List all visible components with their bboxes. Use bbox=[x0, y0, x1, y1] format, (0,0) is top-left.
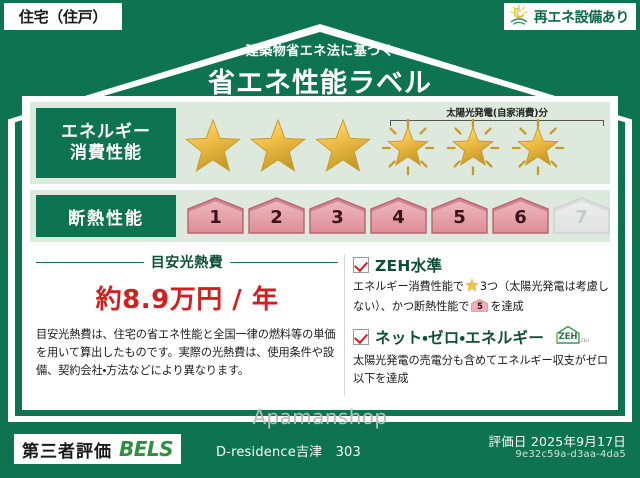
evaluation-id: 9e32c59a-d3aa-4da5 bbox=[515, 449, 626, 460]
energy-stars-area: 太陽光発電(自家消費)分 bbox=[176, 102, 610, 184]
criterion-zeh-standard: ZEH水準 エネルギー消費性能で3つ（太陽光発電は考慮しない）、かつ断熱性能で5… bbox=[353, 254, 610, 316]
star-rating bbox=[182, 118, 569, 178]
net-zero-checkbox bbox=[353, 329, 369, 345]
label-bottom-section: 目安光熱費 約8.9万円 / 年 目安光熱費は、住宅の省エネ性能と全国一律の燃料… bbox=[30, 248, 610, 402]
sun-spiral-icon bbox=[508, 4, 530, 30]
label-content-card: エネルギー 消費性能 太陽光発電(自家消費)分 bbox=[22, 96, 618, 410]
grade-value: 2 bbox=[247, 207, 306, 228]
insulation-grade-scale: 1 2 3 bbox=[186, 196, 613, 236]
star-icon bbox=[465, 278, 479, 298]
renewable-equipment-text: 再エネ設備あり bbox=[534, 7, 629, 27]
title-subtitle: 建築物省エネ法に基づく bbox=[0, 40, 640, 59]
star-icon bbox=[442, 118, 504, 178]
insulation-category-label: 断熱性能 bbox=[36, 195, 176, 237]
heading-rule-left bbox=[36, 262, 144, 263]
bels-logo: BELS bbox=[119, 437, 173, 461]
label-title-block: 建築物省エネ法に基づく 省エネ性能ラベル bbox=[0, 40, 640, 100]
building-name: D-residence吉津 303 bbox=[216, 441, 361, 460]
insulation-grade-3: 3 bbox=[308, 196, 367, 236]
energy-category-line1: エネルギー bbox=[61, 122, 151, 143]
star-base bbox=[182, 118, 244, 178]
star-icon bbox=[507, 118, 569, 178]
title-main: 省エネ性能ラベル bbox=[0, 61, 640, 100]
star-icon bbox=[377, 118, 439, 178]
criterion-zeh-standard-head: ZEH水準 bbox=[353, 254, 610, 276]
zeh-standard-title: ZEH水準 bbox=[375, 254, 442, 276]
energy-performance-label: 住宅（住戸） 再エネ設備あり 建築物省エネ法に基づく 省エネ性能ラベル bbox=[0, 0, 640, 478]
grade-value: 3 bbox=[308, 207, 367, 228]
dwelling-type-text: 住宅（住戸） bbox=[19, 6, 107, 27]
label-footer: 第三者評価 BELS D-residence吉津 303 評価日 2025年9月… bbox=[0, 422, 640, 478]
energy-performance-row: エネルギー 消費性能 太陽光発電(自家消費)分 bbox=[30, 102, 610, 184]
star-icon bbox=[247, 118, 309, 178]
inline-grade-badge: 5 bbox=[471, 299, 488, 312]
insulation-grade-2: 2 bbox=[247, 196, 306, 236]
net-zero-title: ネット・ゼロ・エネルギー bbox=[375, 326, 544, 348]
utility-cost-pane: 目安光熱費 約8.9万円 / 年 目安光熱費は、住宅の省エネ性能と全国一律の燃料… bbox=[30, 248, 344, 402]
grade-value: 6 bbox=[491, 207, 550, 228]
third-party-label: 第三者評価 bbox=[22, 437, 112, 462]
insulation-grade-6: 6 bbox=[491, 196, 550, 236]
zeh-standard-checkbox bbox=[353, 257, 369, 273]
zeh-body-post: を達成 bbox=[490, 300, 523, 313]
star-icon bbox=[312, 118, 374, 178]
criterion-net-zero-energy: ネット・ゼロ・エネルギー ZEH ZEH 太陽光発電の売電分も含めてエネルギー収… bbox=[353, 324, 610, 388]
solar-bracket-label: 太陽光発電(自家消費)分 bbox=[390, 105, 604, 119]
utility-cost-heading: 目安光熱費 bbox=[30, 252, 344, 272]
grade-value: 4 bbox=[369, 207, 428, 228]
net-zero-body: 太陽光発電の売電分も含めてエネルギー収支がゼロ以下を達成 bbox=[353, 352, 610, 388]
utility-cost-heading-text: 目安光熱費 bbox=[151, 252, 224, 272]
grade-value: 7 bbox=[552, 207, 611, 228]
star-base bbox=[312, 118, 374, 178]
heading-rule-right bbox=[230, 262, 338, 263]
insulation-grade-5: 5 bbox=[430, 196, 489, 236]
criteria-pane: ZEH水準 エネルギー消費性能で3つ（太陽光発電は考慮しない）、かつ断熱性能で5… bbox=[353, 248, 610, 402]
criterion-net-zero-head: ネット・ゼロ・エネルギー ZEH ZEH bbox=[353, 324, 610, 350]
utility-cost-value: 約8.9万円 / 年 bbox=[30, 279, 344, 316]
star-solar bbox=[377, 118, 439, 178]
bels-certification-chip: 第三者評価 BELS bbox=[14, 434, 181, 464]
grade-value: 5 bbox=[430, 207, 489, 228]
insulation-grade-4: 4 bbox=[369, 196, 428, 236]
svg-text:ZEH: ZEH bbox=[581, 338, 589, 343]
zeh-house-logo: ZEH ZEH bbox=[553, 324, 593, 350]
star-solar bbox=[442, 118, 504, 178]
star-icon bbox=[182, 118, 244, 178]
star-solar bbox=[507, 118, 569, 178]
utility-cost-note: 目安光熱費は、住宅の省エネ性能と全国一律の燃料等の単価を用いて算出したものです。… bbox=[30, 326, 344, 380]
evaluation-date-label: 評価日 bbox=[489, 434, 527, 449]
insulation-grade-1: 1 bbox=[186, 196, 245, 236]
energy-category-line2: 消費性能 bbox=[70, 143, 142, 164]
svg-text:ZEH: ZEH bbox=[559, 332, 578, 342]
grade-value: 1 bbox=[186, 207, 245, 228]
zeh-body-pre: エネルギー消費性能で bbox=[353, 280, 464, 293]
inline-grade-value: 5 bbox=[471, 301, 488, 315]
renewable-equipment-tag: 再エネ設備あり bbox=[504, 3, 636, 30]
pane-divider bbox=[344, 254, 345, 396]
evaluation-date-value: 2025年9月17日 bbox=[531, 434, 626, 449]
zeh-standard-body: エネルギー消費性能で3つ（太陽光発電は考慮しない）、かつ断熱性能で5を達成 bbox=[353, 278, 610, 316]
insulation-performance-row: 断熱性能 1 2 bbox=[30, 190, 610, 242]
dwelling-type-tag: 住宅（住戸） bbox=[4, 3, 122, 30]
insulation-grade-7: 7 bbox=[552, 196, 611, 236]
evaluation-date: 評価日 2025年9月17日 bbox=[489, 431, 626, 450]
star-base bbox=[247, 118, 309, 178]
energy-category-label: エネルギー 消費性能 bbox=[36, 108, 176, 178]
